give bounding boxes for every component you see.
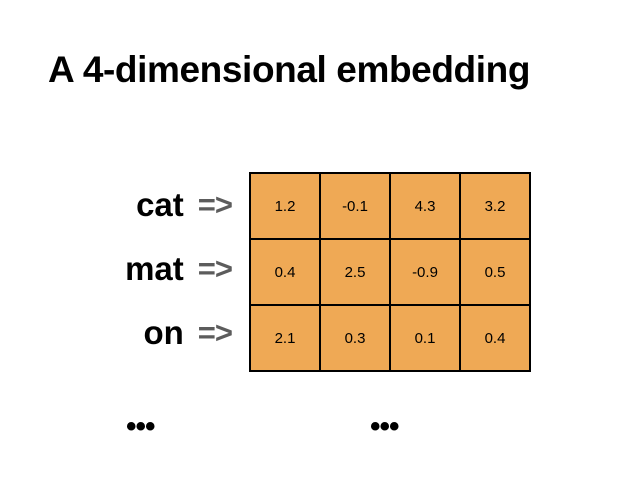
word-row-on: on => — [40, 301, 240, 365]
ellipsis-words: ••• — [126, 412, 155, 442]
slide-canvas: A 4-dimensional embedding cat => mat => … — [0, 0, 638, 484]
embedding-matrix: 1.2 -0.1 4.3 3.2 0.4 2.5 -0.9 0.5 2.1 0.… — [249, 172, 531, 372]
table-row: 0.4 2.5 -0.9 0.5 — [250, 239, 530, 305]
maps-to-arrow-icon: => — [198, 253, 232, 284]
matrix-cell: 3.2 — [460, 173, 530, 239]
matrix-cell: 0.4 — [460, 305, 530, 371]
matrix-cell: -0.9 — [390, 239, 460, 305]
maps-to-arrow-icon: => — [198, 317, 232, 348]
word-label-cat: cat — [136, 188, 184, 221]
matrix-cell: 4.3 — [390, 173, 460, 239]
matrix-cell: 1.2 — [250, 173, 320, 239]
word-label-column: cat => mat => on => — [40, 172, 240, 365]
page-title: A 4-dimensional embedding — [48, 48, 608, 92]
word-row-cat: cat => — [40, 172, 240, 236]
ellipsis-matrix: ••• — [370, 412, 399, 442]
word-label-mat: mat — [125, 252, 184, 285]
maps-to-arrow-icon: => — [198, 189, 232, 220]
matrix-cell: 0.3 — [320, 305, 390, 371]
matrix-cell: 0.4 — [250, 239, 320, 305]
word-row-mat: mat => — [40, 236, 240, 300]
matrix-cell: 0.1 — [390, 305, 460, 371]
matrix-cell: -0.1 — [320, 173, 390, 239]
matrix-cell: 2.1 — [250, 305, 320, 371]
table-row: 1.2 -0.1 4.3 3.2 — [250, 173, 530, 239]
matrix-cell: 0.5 — [460, 239, 530, 305]
table-row: 2.1 0.3 0.1 0.4 — [250, 305, 530, 371]
word-label-on: on — [143, 316, 183, 349]
matrix-cell: 2.5 — [320, 239, 390, 305]
